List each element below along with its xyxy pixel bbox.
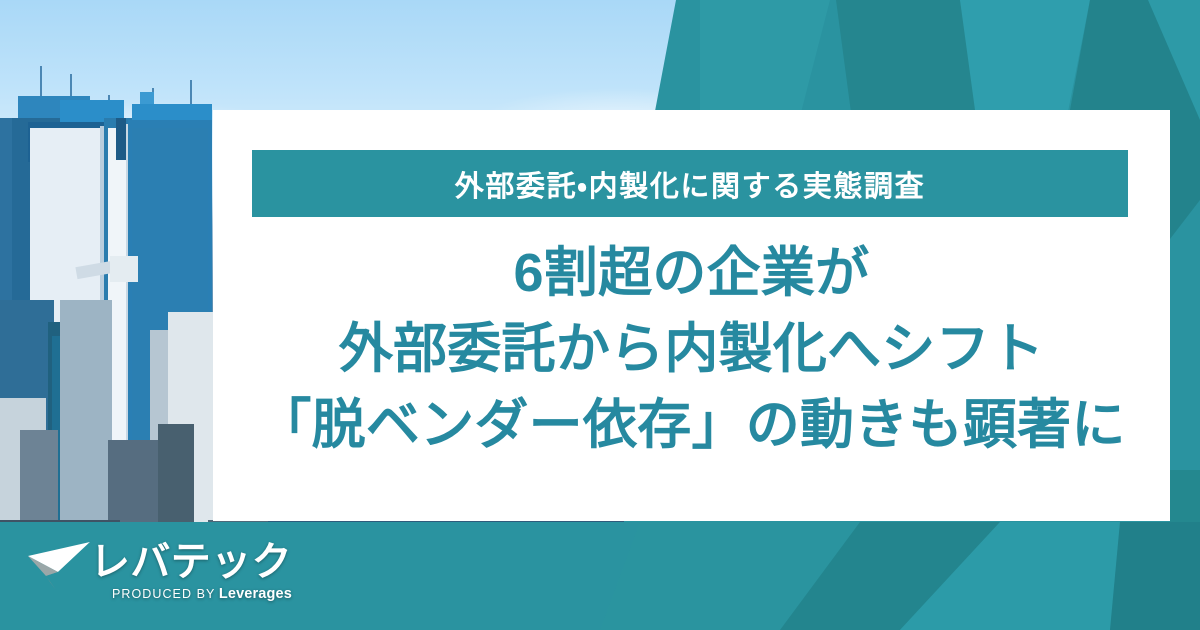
headline-block: 6割超の企業が 外部委託から内製化へシフト 「脱ベンダー依存」の動きも顕著に (213, 235, 1170, 463)
headline-line-1: 6割超の企業が (213, 235, 1170, 311)
leverages-company-name: Leverages (219, 586, 292, 602)
headline-line-2: 外部委託から内製化へシフト (213, 311, 1170, 387)
levtech-wordmark: レバテック (90, 538, 292, 586)
ogp-banner: 外部委託・内製化に関する実態調査 6割超の企業が 外部委託から内製化へシフト 「… (0, 0, 1200, 630)
content-card: 外部委託・内製化に関する実態調査 6割超の企業が 外部委託から内製化へシフト 「… (213, 110, 1170, 521)
survey-title-text: 外部委託・内製化に関する実態調査 (455, 163, 925, 205)
levtech-checkmark-logo-icon (28, 542, 90, 590)
produced-by-label: PRODUCED BY (112, 587, 215, 601)
headline-line-3: 「脱ベンダー依存」の動きも顕著に (213, 387, 1170, 463)
produced-by-line: PRODUCED BY Leverages (112, 586, 292, 602)
levtech-logo: レバテック PRODUCED BY Leverages (28, 540, 268, 604)
survey-title-banner: 外部委託・内製化に関する実態調査 (252, 150, 1128, 217)
